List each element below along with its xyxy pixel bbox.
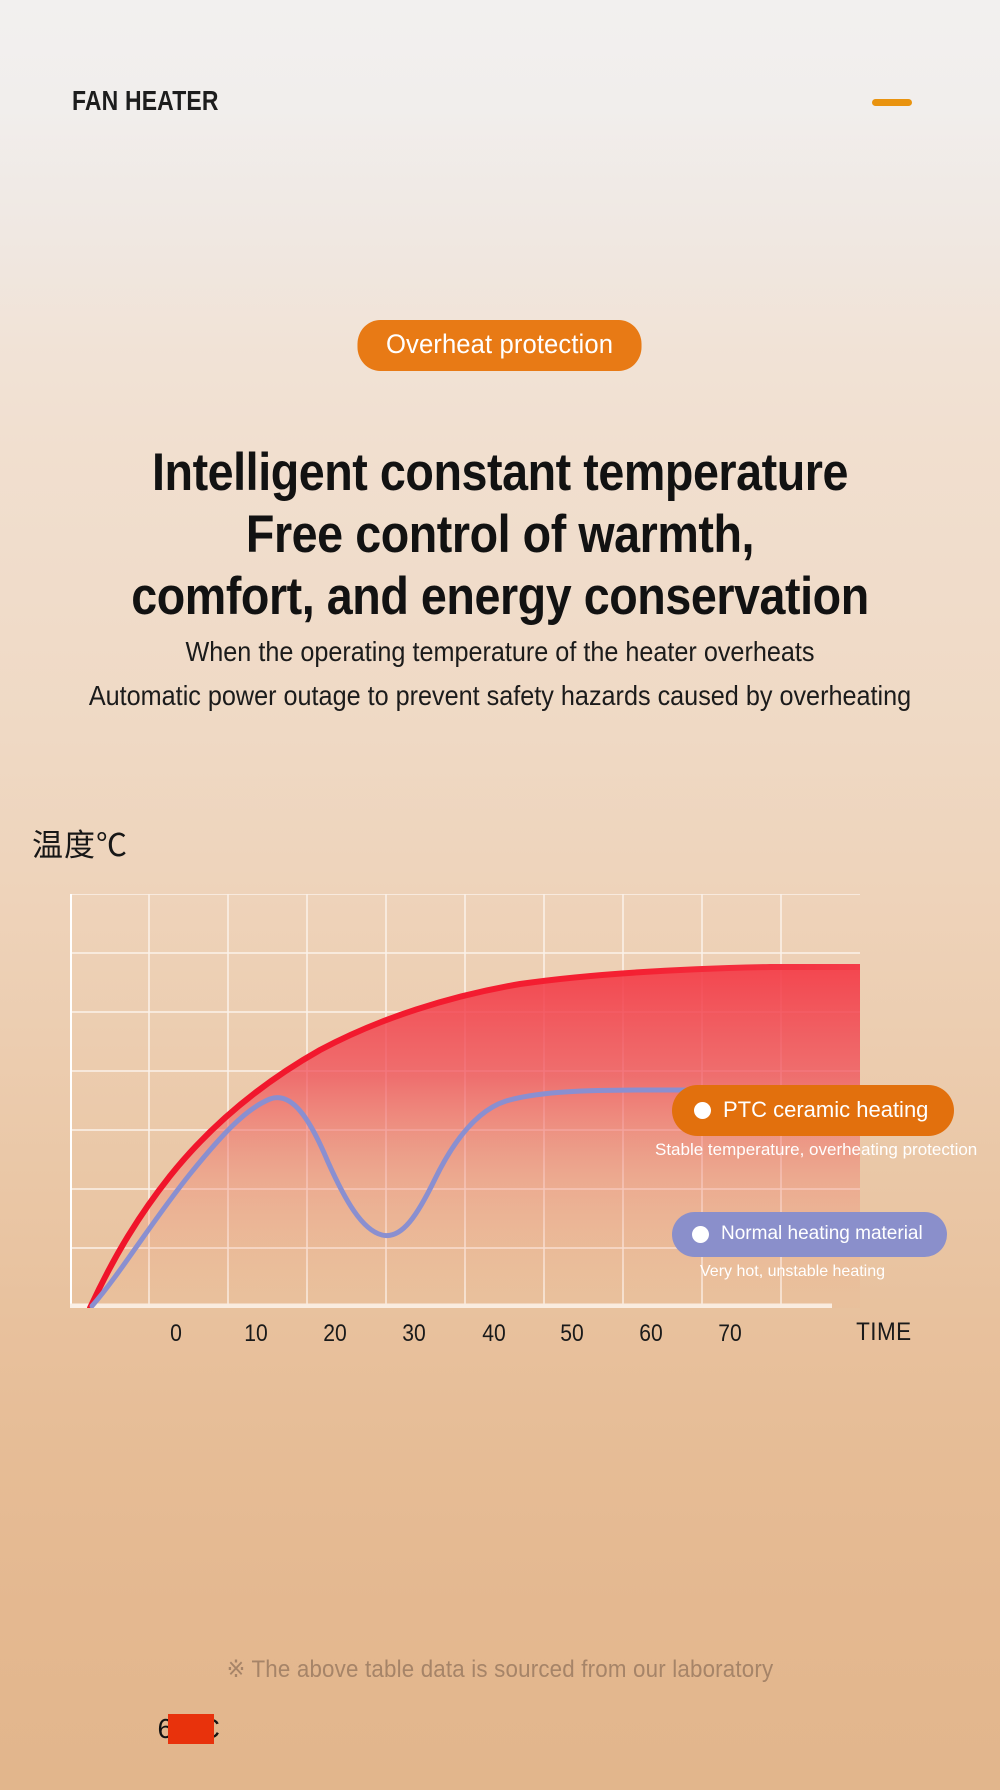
- brand-title: FAN HEATER: [72, 85, 219, 117]
- page-subtitle: When the operating temperature of the he…: [0, 630, 1000, 718]
- legend-ptc-ceramic-heating[interactable]: PTC ceramic heating: [672, 1085, 954, 1136]
- x-axis-title: TIME: [856, 1318, 912, 1347]
- x-tick-label: 60: [625, 1320, 678, 1348]
- x-tick-label: 30: [388, 1320, 441, 1348]
- subtitle-line-2: Automatic power outage to prevent safety…: [50, 674, 950, 718]
- legend-normal-heating-material[interactable]: Normal heating material: [672, 1212, 947, 1257]
- legend-caption-ptc: Stable temperature, overheating protecti…: [655, 1140, 977, 1160]
- subtitle-line-1: When the operating temperature of the he…: [50, 630, 950, 674]
- product-infographic-page: FAN HEATER Overheat protection Intellige…: [0, 0, 1000, 1790]
- y-tick-swatch: [168, 1714, 214, 1744]
- x-tick-label: 0: [150, 1320, 203, 1348]
- headline-line-2: Free control of warmth,: [60, 504, 940, 566]
- headline-line-3: comfort, and energy conservation: [60, 566, 940, 628]
- legend-label: PTC ceramic heating: [723, 1097, 928, 1123]
- legend-caption-normal: Very hot, unstable heating: [700, 1263, 885, 1281]
- legend-label: Normal heating material: [721, 1223, 923, 1245]
- legend-dot-icon: [694, 1102, 711, 1119]
- x-tick-label: 10: [230, 1320, 283, 1348]
- footer-note: ※ The above table data is sourced from o…: [0, 1655, 1000, 1684]
- page-header: FAN HEATER: [0, 85, 1000, 125]
- x-tick-label: 40: [468, 1320, 521, 1348]
- footer-note-text: ※ The above table data is sourced from o…: [227, 1655, 774, 1684]
- header-dash-icon: [872, 99, 912, 106]
- temperature-chart: 温度℃: [0, 820, 1000, 1540]
- overheat-protection-badge: Overheat protection: [358, 320, 642, 371]
- legend-dot-icon: [692, 1226, 709, 1243]
- x-axis-labels: 0 10 20 30 40 50 60 70 TIME: [0, 820, 1000, 1540]
- badge-row: Overheat protection: [0, 320, 1000, 371]
- page-title: Intelligent constant temperature Free co…: [0, 442, 1000, 628]
- x-tick-label: 50: [546, 1320, 599, 1348]
- x-tick-label: 70: [704, 1320, 757, 1348]
- x-tick-label: 20: [309, 1320, 362, 1348]
- headline-line-1: Intelligent constant temperature: [60, 442, 940, 504]
